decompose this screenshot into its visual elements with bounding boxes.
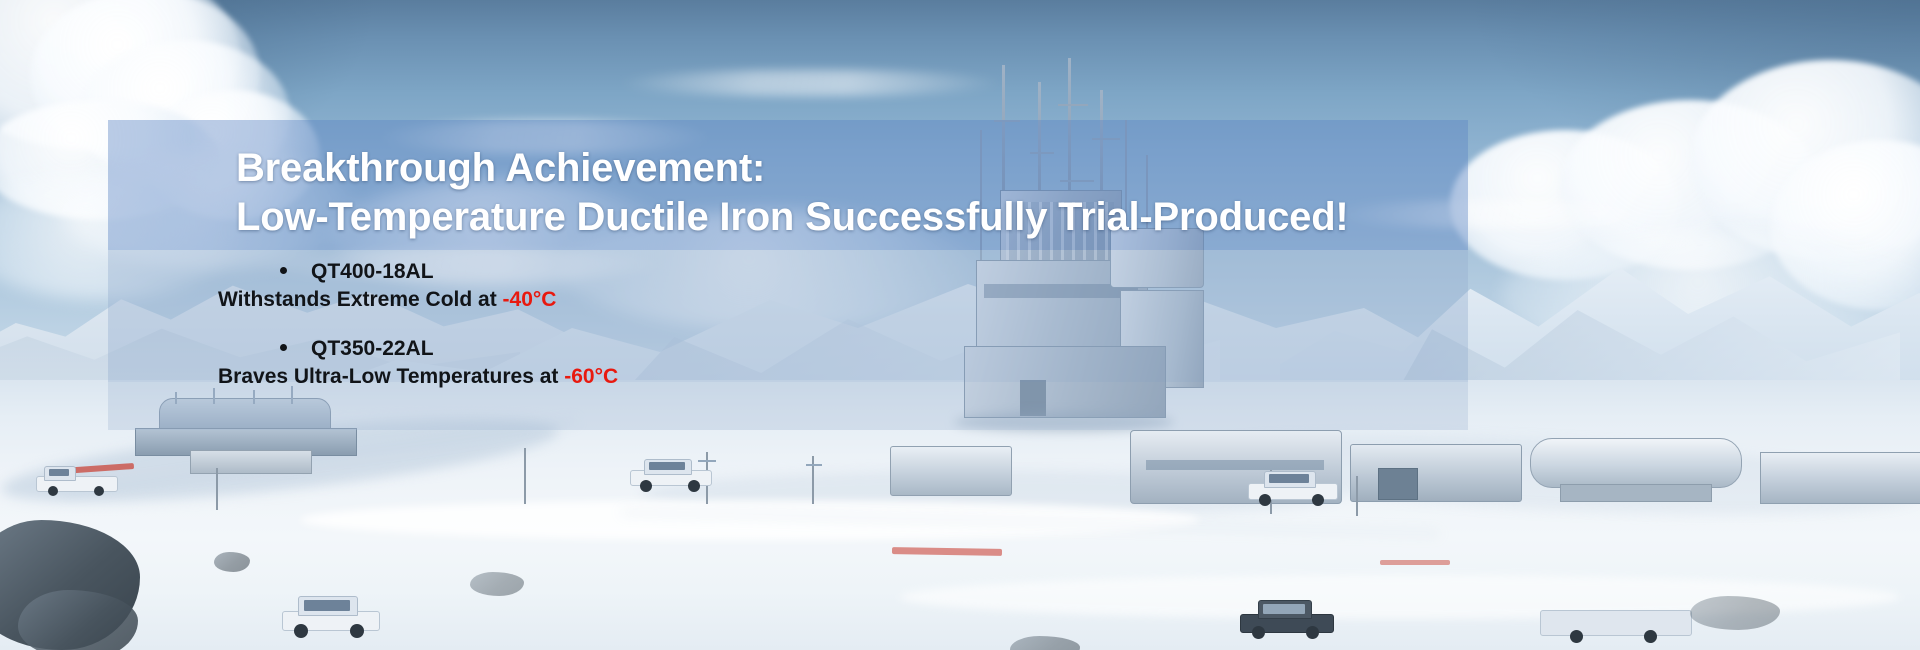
temperature-value-2: -60°C	[564, 365, 618, 388]
field-pole-6	[1356, 476, 1358, 516]
vehicle-suv-bottom-left	[282, 596, 378, 636]
bullet-group-2: QT350-22AL Braves Ultra-Low Temperatures…	[108, 335, 1468, 392]
headline: Breakthrough Achievement: Low-Temperatur…	[236, 148, 1349, 237]
rock-small-3	[1690, 596, 1780, 630]
vehicle-car-bottom-right	[1240, 600, 1332, 638]
right-hangar-mid-door	[1378, 468, 1418, 500]
right-hangar-large-stripe	[1146, 460, 1324, 470]
antenna-crossbar-2	[1058, 104, 1088, 106]
description-label-1: Withstands Extreme Cold at	[218, 288, 497, 311]
vehicle-suv-center	[630, 458, 710, 490]
vehicle-trailer-right	[1540, 604, 1690, 644]
field-pole-crossbar-2	[806, 464, 822, 466]
bullet-group-1: QT400-18AL Withstands Extreme Cold at -4…	[108, 258, 1468, 315]
headline-line-2: Low-Temperature Ductile Iron Successfull…	[236, 197, 1349, 237]
bullet-dot-icon	[280, 344, 287, 351]
field-pole-1	[216, 468, 218, 510]
bullet-item-grade-2: QT350-22AL	[108, 335, 1468, 363]
bullet-item-desc-2: Braves Ultra-Low Temperatures at -60°C	[108, 363, 1468, 391]
left-facility-annex	[190, 450, 312, 474]
temperature-value-1: -40°C	[503, 288, 557, 311]
field-pole-2	[524, 448, 526, 504]
headline-line-1: Breakthrough Achievement:	[236, 146, 765, 190]
bullet-list: QT400-18AL Withstands Extreme Cold at -4…	[108, 258, 1468, 411]
right-tank-support	[1560, 484, 1712, 502]
grade-label-1: QT400-18AL	[311, 260, 434, 283]
right-tank-cylinder	[1530, 438, 1742, 488]
description-label-2: Braves Ultra-Low Temperatures at	[218, 365, 558, 388]
right-hangar-mid	[1350, 444, 1522, 502]
promo-banner-image: Breakthrough Achievement: Low-Temperatur…	[0, 0, 1920, 650]
vehicle-truck-left	[36, 466, 116, 494]
grade-label-2: QT350-22AL	[311, 337, 434, 360]
vehicle-suv-right	[1248, 470, 1336, 504]
mid-hangar-small	[890, 446, 1012, 496]
bullet-dot-icon	[280, 267, 287, 274]
bullet-item-desc-1: Withstands Extreme Cold at -40°C	[108, 286, 1468, 314]
right-far-structure	[1760, 452, 1920, 504]
cloud-wisp-2	[620, 70, 1000, 96]
rock-small-2	[470, 572, 524, 596]
bullet-item-grade-1: QT400-18AL	[108, 258, 1468, 286]
rock-small-1	[214, 552, 250, 572]
snow-marker-3	[1380, 560, 1450, 565]
text-overlay-panel: Breakthrough Achievement: Low-Temperatur…	[108, 120, 1468, 430]
